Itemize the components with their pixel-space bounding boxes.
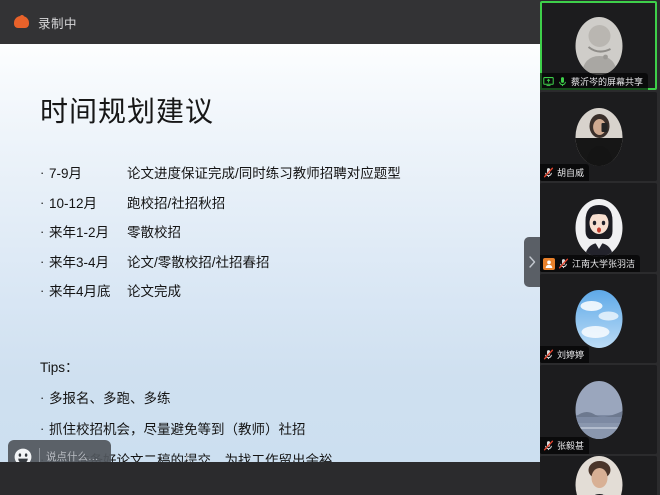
recording-bar: 录制中 (0, 0, 540, 44)
chevron-left-icon (185, 452, 191, 463)
participant-tile[interactable]: 刘婷婷 (540, 274, 657, 363)
recording-label: 录制中 (38, 13, 77, 32)
avatar (575, 199, 622, 257)
participant-tile[interactable]: 胡自威 (540, 92, 657, 181)
schedule-period: 来年1-2月 (49, 221, 127, 241)
microphone-on-icon (557, 76, 568, 87)
participant-name: 江南大学张羽洁 (572, 257, 635, 270)
schedule-row: · 来年3-4月 论文/零散校招/社招春招 (40, 251, 500, 271)
avatar (575, 381, 622, 439)
chat-send-button[interactable] (181, 452, 195, 463)
chevron-right-icon (529, 256, 536, 268)
schedule-desc: 论文进度保证完成/同时练习教师招聘对应题型 (127, 162, 401, 182)
bullet-icon: · (40, 166, 49, 179)
schedule-row: · 来年4月底 论文完成 (40, 280, 500, 300)
schedule-row: · 7-9月 论文进度保证完成/同时练习教师招聘对应题型 (40, 162, 500, 182)
bullet-icon: · (40, 196, 49, 209)
avatar (575, 290, 622, 348)
participant-name: 蔡沂岑的屏幕共享 (571, 75, 643, 88)
participant-name: 刘婷婷 (557, 348, 584, 361)
chat-divider (39, 448, 40, 462)
photo-person-avatar (575, 17, 622, 75)
chat-input[interactable] (46, 451, 181, 462)
participant-nameplate: 张毅甚 (540, 437, 589, 454)
schedule-list: · 7-9月 论文进度保证完成/同时练习教师招聘对应题型 · 10-12月 跑校… (40, 162, 500, 310)
slide-title: 时间规划建议 (40, 90, 214, 130)
bullet-icon: · (40, 284, 49, 297)
illustration-girl-avatar (575, 199, 622, 257)
chat-input-bar[interactable] (8, 440, 111, 462)
chevron-down-icon[interactable] (591, 490, 607, 495)
schedule-desc: 论文/零散校招/社招春招 (127, 251, 270, 271)
avatar (575, 17, 622, 75)
participant-tile[interactable]: 蔡沂岑的屏幕共享 (540, 1, 657, 90)
tip-row: · 多报名、多跑、多练 (40, 387, 510, 407)
microphone-off-icon (543, 440, 554, 451)
bullet-icon: · (40, 225, 49, 238)
host-person-icon (545, 260, 553, 268)
schedule-period: 来年4月底 (49, 280, 127, 300)
microphone-off-icon (543, 349, 554, 360)
host-badge (543, 258, 555, 270)
participant-nameplate: 刘婷婷 (540, 346, 589, 363)
bullet-icon: · (40, 422, 49, 435)
participant-tile[interactable] (540, 456, 657, 495)
participant-tile[interactable]: 江南大学张羽洁 (540, 183, 657, 272)
screen-share-icon (543, 76, 554, 87)
schedule-period: 7-9月 (49, 162, 127, 182)
bullet-icon: · (40, 391, 49, 404)
meeting-screen-share-window: 录制中 时间规划建议 · 7-9月 论文进度保证完成/同时练习教师招聘对应题型 … (0, 0, 660, 495)
participant-name: 张毅甚 (557, 439, 584, 452)
schedule-period: 来年3-4月 (49, 251, 127, 271)
schedule-row: · 来年1-2月 零散校招 (40, 221, 500, 241)
schedule-period: 10-12月 (49, 192, 127, 212)
avatar (575, 108, 622, 166)
schedule-desc: 跑校招/社招秋招 (127, 192, 225, 212)
participant-tile[interactable]: 张毅甚 (540, 365, 657, 454)
participant-nameplate: 蔡沂岑的屏幕共享 (540, 73, 648, 90)
tip-text: 多报名、多跑、多练 (49, 387, 171, 407)
photo-landscape-avatar (575, 381, 622, 439)
participant-nameplate: 胡自威 (540, 164, 589, 181)
tips-heading: Tips： (40, 356, 510, 376)
photo-person-avatar (575, 108, 622, 166)
tip-text: 抓住校招机会，尽量避免等到（教师）社招 (49, 418, 306, 438)
bullet-icon: · (40, 255, 49, 268)
participants-sidebar[interactable]: 蔡沂岑的屏幕共享 (540, 0, 660, 495)
schedule-row: · 10-12月 跑校招/社招秋招 (40, 192, 500, 212)
recording-icon (14, 15, 29, 29)
shared-slide[interactable]: 时间规划建议 · 7-9月 论文进度保证完成/同时练习教师招聘对应题型 · 10… (0, 44, 540, 462)
participant-name: 胡自威 (557, 166, 584, 179)
microphone-off-icon (543, 167, 554, 178)
collapse-panel-handle[interactable] (524, 237, 540, 287)
emoji-icon[interactable] (13, 447, 33, 462)
microphone-off-icon (558, 258, 569, 269)
photo-sky-avatar (575, 290, 622, 348)
tip-row: · 抓住校招机会，尽量避免等到（教师）社招 (40, 418, 510, 438)
schedule-desc: 论文完成 (127, 280, 181, 300)
schedule-desc: 零散校招 (127, 221, 181, 241)
participant-nameplate: 江南大学张羽洁 (540, 255, 640, 272)
